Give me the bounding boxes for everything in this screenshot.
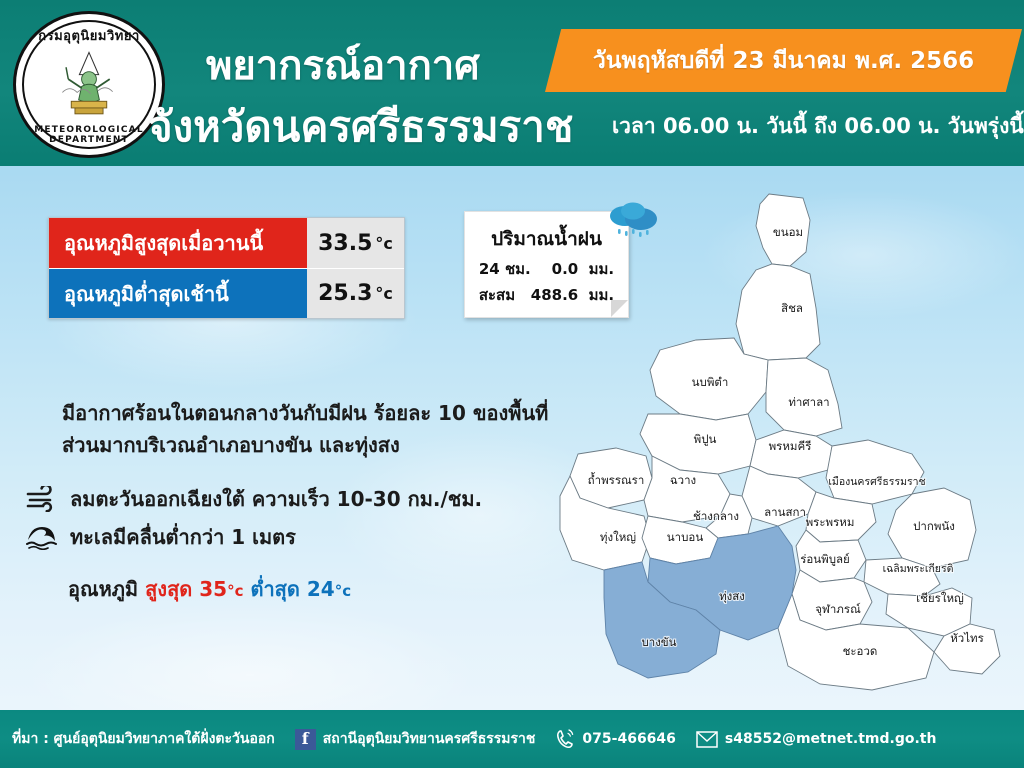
- map-label-chianyai: เชียรใหญ่: [916, 591, 964, 605]
- temp-low-degree: °c: [335, 582, 351, 600]
- seal-bottom-text: METEOROLOGICAL DEPARTMENT: [16, 125, 162, 145]
- temp-high-degree: °c: [227, 582, 243, 600]
- map-label-ronphibun: ร่อนพิบูลย์: [800, 552, 850, 566]
- facebook-item[interactable]: f สถานีอุตุนิยมวิทยานครศรีธรรมราช: [295, 728, 536, 750]
- email-text[interactable]: s48552@metnet.tmd.go.th: [725, 731, 937, 747]
- map-label-chulabhorn: จุฬาภรณ์: [815, 602, 861, 616]
- wind-icon: [26, 486, 60, 512]
- map-label-mueang: เมืองนครศรีธรรมราช: [828, 475, 925, 488]
- map-label-phraphrom: พระพรหม: [806, 515, 855, 529]
- map-label-thungsong: ทุ่งสง: [719, 589, 745, 603]
- table-row: อุณหภูมิต่ำสุดเช้านี้ 25.3 °c: [49, 268, 404, 318]
- envelope-icon: [696, 731, 718, 748]
- map-label-lansaka: ลานสกา: [764, 505, 806, 519]
- district-shape-phromkhiri[interactable]: [750, 430, 832, 478]
- temp-range-row: อุณหภูมิ สูงสุด 35°c ต่ำสุด 24°c: [68, 573, 351, 605]
- wind-row: ลมตะวันออกเฉียงใต้ ความเร็ว 10-30 กม./ชม…: [26, 483, 482, 515]
- map-label-thamphannara: ถ้ำพรรณรา: [588, 472, 645, 487]
- temp-high-value: 35: [199, 577, 227, 601]
- district-shape-mueang[interactable]: [826, 440, 924, 504]
- map-label-phipun: พิปูน: [694, 432, 717, 446]
- map-label-bangkhan: บางขัน: [641, 635, 676, 649]
- time-range-text: เวลา 06.00 น. วันนี้ ถึง 06.00 น. วันพรุ…: [612, 110, 1024, 143]
- deity-emblem-icon: [52, 49, 126, 123]
- wave-text: ทะเลมีคลื่นต่ำกว่า 1 เมตร: [70, 521, 296, 553]
- min-temp-number: 25.3: [318, 281, 372, 306]
- wind-text: ลมตะวันออกเฉียงใต้ ความเร็ว 10-30 กม./ชม…: [70, 483, 482, 515]
- footer-bar: ที่มา : ศูนย์อุตุนิยมวิทยาภาคใต้ฝั่งตะวั…: [0, 710, 1024, 768]
- map-label-phromkhiri: พรหมคีรี: [769, 439, 812, 453]
- seal-top-text: กรมอุตุนิยมวิทยา: [16, 25, 162, 46]
- source-text: ที่มา : ศูนย์อุตุนิยมวิทยาภาคใต้ฝั่งตะวั…: [12, 728, 275, 750]
- weather-infographic: กรมอุตุนิยมวิทยา METEOROLOGICAL DEPARTME…: [0, 0, 1024, 768]
- min-temp-value: 25.3 °c: [307, 269, 404, 318]
- max-temp-value: 33.5 °c: [307, 218, 404, 268]
- temp-low-value: 24: [307, 577, 335, 601]
- date-banner: วันพฤหัสบดีที่ 23 มีนาคม พ.ศ. 2566: [545, 29, 1022, 92]
- min-temp-label: อุณหภูมิต่ำสุดเช้านี้: [49, 269, 307, 318]
- temp-range-label: อุณหภูมิ: [68, 577, 138, 601]
- map-label-thasala: ท่าศาลา: [788, 395, 829, 409]
- max-temp-number: 33.5: [318, 231, 372, 256]
- page-title: พยากรณ์อากาศ: [206, 33, 480, 97]
- province-district-map: ขนอม สิชล นบพิตำ ท่าศาลา พิปูน พรหมคีรี …: [520, 178, 1024, 708]
- map-label-pakphanang: ปากพนัง: [913, 519, 955, 533]
- tmd-seal-logo: กรมอุตุนิยมวิทยา METEOROLOGICAL DEPARTME…: [13, 11, 165, 158]
- facebook-icon[interactable]: f: [295, 729, 316, 750]
- source-item: ที่มา : ศูนย์อุตุนิยมวิทยาภาคใต้ฝั่งตะวั…: [12, 728, 275, 750]
- map-label-nopphitam: นบพิตำ: [692, 375, 729, 389]
- max-temp-label: อุณหภูมิสูงสุดเมื่อวานนี้: [49, 218, 307, 268]
- min-temp-unit: °c: [375, 284, 392, 303]
- phone-item[interactable]: 075-466646: [555, 728, 675, 750]
- map-label-khanom: ขนอม: [773, 225, 803, 239]
- max-temp-unit: °c: [375, 234, 392, 253]
- temperature-table: อุณหภูมิสูงสุดเมื่อวานนี้ 33.5 °c อุณหภู…: [48, 217, 405, 319]
- map-label-chaloemphrakiat: เฉลิมพระเกียรติ: [883, 562, 954, 575]
- page-subtitle: จังหวัดนครศรีธรรมราช: [148, 94, 573, 160]
- map-label-huasai: หัวไทร: [950, 631, 984, 645]
- phone-text[interactable]: 075-466646: [582, 731, 675, 747]
- phone-icon: [555, 728, 575, 750]
- facebook-page-text[interactable]: สถานีอุตุนิยมวิทยานครศรีธรรมราช: [323, 728, 536, 750]
- map-label-thungyai: ทุ่งใหญ่: [600, 530, 636, 544]
- map-label-cha-uat: ชะอวด: [843, 644, 878, 658]
- map-label-sichon: สิชล: [781, 301, 803, 315]
- map-svg: ขนอม สิชล นบพิตำ ท่าศาลา พิปูน พรหมคีรี …: [520, 178, 1024, 708]
- table-row: อุณหภูมิสูงสุดเมื่อวานนี้ 33.5 °c: [49, 218, 404, 268]
- wave-row: ทะเลมีคลื่นต่ำกว่า 1 เมตร: [26, 521, 296, 553]
- district-shape-sichon[interactable]: [736, 264, 820, 360]
- map-label-chawang: ฉวาง: [670, 473, 696, 487]
- temp-high-label: สูงสุด: [145, 577, 192, 601]
- temp-low-label: ต่ำสุด: [250, 577, 299, 601]
- header-bar: กรมอุตุนิยมวิทยา METEOROLOGICAL DEPARTME…: [0, 0, 1024, 166]
- email-item[interactable]: s48552@metnet.tmd.go.th: [696, 731, 937, 748]
- date-banner-text: วันพฤหัสบดีที่ 23 มีนาคม พ.ศ. 2566: [593, 43, 974, 79]
- map-label-changklang: ช้างกลาง: [693, 509, 739, 523]
- wave-icon: [26, 524, 60, 550]
- map-label-nabon: นาบอน: [667, 530, 704, 544]
